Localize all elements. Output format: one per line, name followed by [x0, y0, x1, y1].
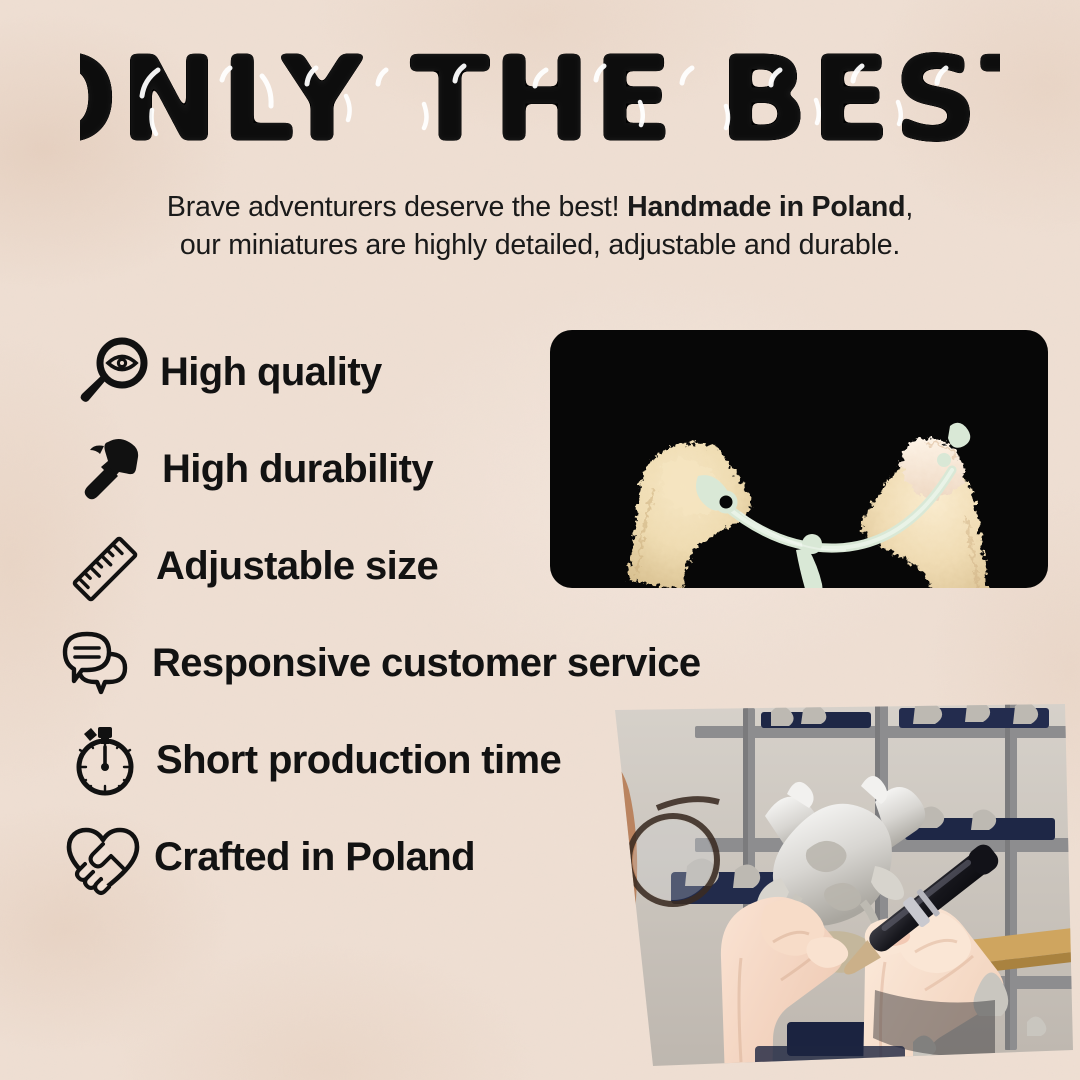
feature-item-responsive-customer-service: Responsive customer service [62, 615, 822, 712]
stopwatch-icon [58, 723, 152, 799]
headline-container: ONLY THE BEST [0, 36, 1080, 166]
subtitle-line-2: our miniatures are highly detailed, adju… [90, 226, 990, 264]
feature-label: Crafted in Poland [154, 835, 475, 880]
page-title: ONLY THE BEST [80, 36, 1000, 166]
feature-item-high-quality: High quality [62, 324, 822, 421]
handshake-heart-icon [56, 822, 150, 898]
subtitle-line-1: Brave adventurers deserve the best! Hand… [90, 188, 990, 226]
ruler-icon [58, 531, 152, 607]
hammer-icon [66, 432, 160, 508]
subtitle-lead: Brave adventurers deserve the best! [167, 191, 627, 223]
feature-item-crafted-in-poland: Crafted in Poland [62, 809, 822, 906]
feature-label: High durability [162, 447, 433, 492]
feature-label: Adjustable size [156, 544, 438, 589]
subtitle-tail: , [905, 191, 913, 223]
promo-poster: ONLY THE BEST [0, 0, 1080, 1080]
magnifier-eye-icon [68, 335, 162, 411]
feature-list: High quality High durability [62, 324, 822, 906]
subtitle: Brave adventurers deserve the best! Hand… [90, 188, 990, 264]
headline-text: ONLY THE BEST [80, 36, 1000, 166]
feature-label: High quality [160, 350, 382, 395]
subtitle-bold: Handmade in Poland [627, 191, 905, 223]
speech-bubbles-icon [54, 628, 148, 704]
feature-item-short-production-time: Short production time [62, 712, 822, 809]
feature-item-high-durability: High durability [62, 421, 822, 518]
feature-label: Responsive customer service [152, 641, 701, 686]
feature-item-adjustable-size: Adjustable size [62, 518, 822, 615]
feature-label: Short production time [156, 738, 561, 783]
